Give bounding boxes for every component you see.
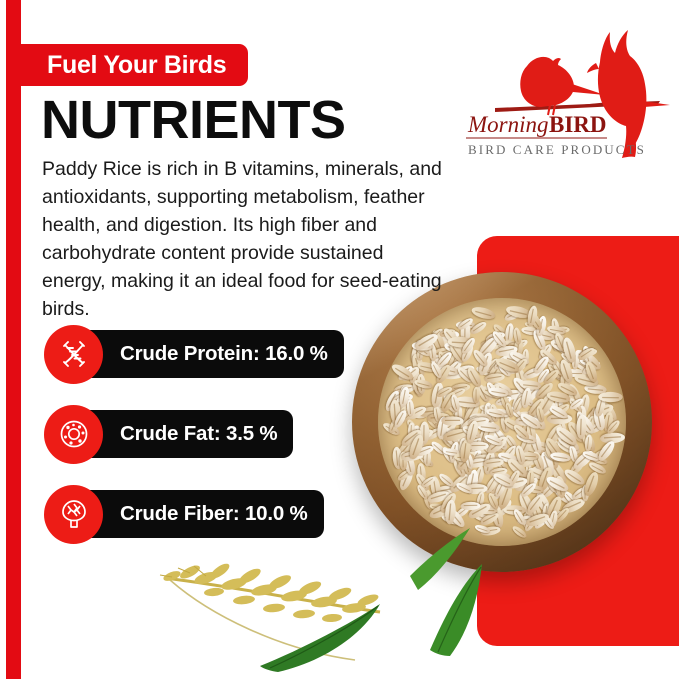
- logo-artwork: Morning BIRD BIRD CARE PRODUCTS: [455, 22, 670, 162]
- nutrient-badge-list: Crude Protein: 16.0 % Cru: [44, 323, 103, 563]
- nutrient-pill-fat: Crude Fat: 3.5 %: [70, 410, 293, 458]
- rice-grain: [473, 387, 480, 404]
- brand-name-bold: BIRD: [549, 112, 607, 137]
- poster-canvas: Fuel Your Birds NUTRIENTS Paddy Rice is …: [0, 0, 679, 679]
- broccoli-icon: [44, 485, 103, 544]
- nutrient-label-protein: Crude Protein: 16.0 %: [120, 342, 328, 366]
- nutrient-label-fat: Crude Fat: 3.5 %: [120, 422, 277, 446]
- rice-panicle-icon: [160, 561, 380, 623]
- nutrient-badge-protein: Crude Protein: 16.0 %: [44, 323, 103, 385]
- brand-logo: Morning BIRD BIRD CARE PRODUCTS: [455, 22, 670, 162]
- green-leaf-icon-3: [410, 528, 470, 590]
- rice-grain: [582, 470, 601, 497]
- foliage-decoration: [110, 520, 580, 679]
- nutrient-badge-fat: Crude Fat: 3.5 %: [44, 403, 103, 465]
- nutrient-pill-protein: Crude Protein: 16.0 %: [70, 330, 344, 378]
- rice-grain: [598, 392, 622, 403]
- eyebrow-banner: Fuel Your Birds: [6, 44, 248, 86]
- rice-grains: [378, 298, 626, 546]
- nutrient-pill-fiber: Crude Fiber: 10.0 %: [70, 490, 324, 538]
- brand-tagline: BIRD CARE PRODUCTS: [468, 142, 646, 157]
- nutrient-label-fiber: Crude Fiber: 10.0 %: [120, 502, 308, 526]
- page-title: NUTRIENTS: [41, 92, 346, 148]
- rice-grain: [471, 304, 497, 320]
- cardinal-bird-icon: [587, 30, 670, 158]
- bowl-interior: [378, 298, 626, 546]
- left-accent-bar: [6, 0, 21, 679]
- nutrient-badge-fiber: Crude Fiber: 10.0 %: [44, 483, 103, 545]
- dna-helix-icon: [44, 325, 103, 384]
- body-paragraph: Paddy Rice is rich in B vitamins, minera…: [42, 155, 442, 323]
- green-leaf-icon: [260, 604, 380, 672]
- eyebrow-banner-label: Fuel Your Birds: [47, 51, 226, 80]
- fat-globule-icon: [44, 405, 103, 464]
- brand-name-script: Morning: [467, 112, 549, 137]
